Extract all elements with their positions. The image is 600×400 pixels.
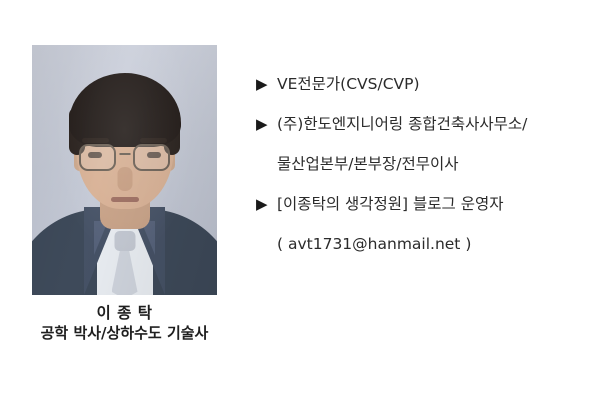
eyebrow-left-shape	[82, 138, 109, 143]
credential-item: ▶ VE전문가(CVS/CVP)	[256, 72, 586, 112]
hair-shape	[69, 73, 181, 147]
triangle-bullet-icon: ▶	[256, 72, 277, 96]
tie-knot-shape	[114, 231, 135, 251]
eyeglass-lens-left	[79, 144, 116, 171]
person-name: 이 종 탁	[32, 304, 217, 324]
eyeglass-lens-right	[133, 144, 170, 171]
credential-item: ▶ [이종탁의 생각정원] 블로그 운영자	[256, 192, 586, 232]
credential-text: 물산업본부/본부장/전무이사	[277, 152, 459, 176]
triangle-bullet-icon: ▶	[256, 192, 277, 216]
credential-item: ▶ (주)한도엔지니어링 종합건축사사무소/	[256, 112, 586, 152]
email-address: ( avt1731@hanmail.net )	[277, 232, 471, 256]
person-title: 공학 박사/상하수도 기술사	[32, 324, 217, 343]
eyebrow-right-shape	[140, 138, 167, 143]
credentials-list: ▶ VE전문가(CVS/CVP) ▶ (주)한도엔지니어링 종합건축사사무소/ …	[256, 72, 586, 272]
nose-shape	[117, 167, 132, 191]
profile-card: 이 종 탁 공학 박사/상하수도 기술사 ▶ VE전문가(CVS/CVP) ▶ …	[0, 0, 600, 400]
credential-text: [이종탁의 생각정원] 블로그 운영자	[277, 192, 504, 216]
portrait-photo	[32, 45, 217, 295]
credential-item-continuation: ▶ 물산업본부/본부장/전무이사	[256, 152, 586, 192]
photo-caption: 이 종 탁 공학 박사/상하수도 기술사	[32, 304, 217, 343]
credential-text: VE전문가(CVS/CVP)	[277, 72, 420, 96]
photo-column: 이 종 탁 공학 박사/상하수도 기술사	[32, 45, 217, 343]
eyeglass-bridge	[119, 153, 130, 155]
credential-text: (주)한도엔지니어링 종합건축사사무소/	[277, 112, 527, 136]
credential-item-email: ▶ ( avt1731@hanmail.net )	[256, 232, 586, 272]
triangle-bullet-icon: ▶	[256, 112, 277, 136]
mouth-shape	[111, 197, 139, 202]
